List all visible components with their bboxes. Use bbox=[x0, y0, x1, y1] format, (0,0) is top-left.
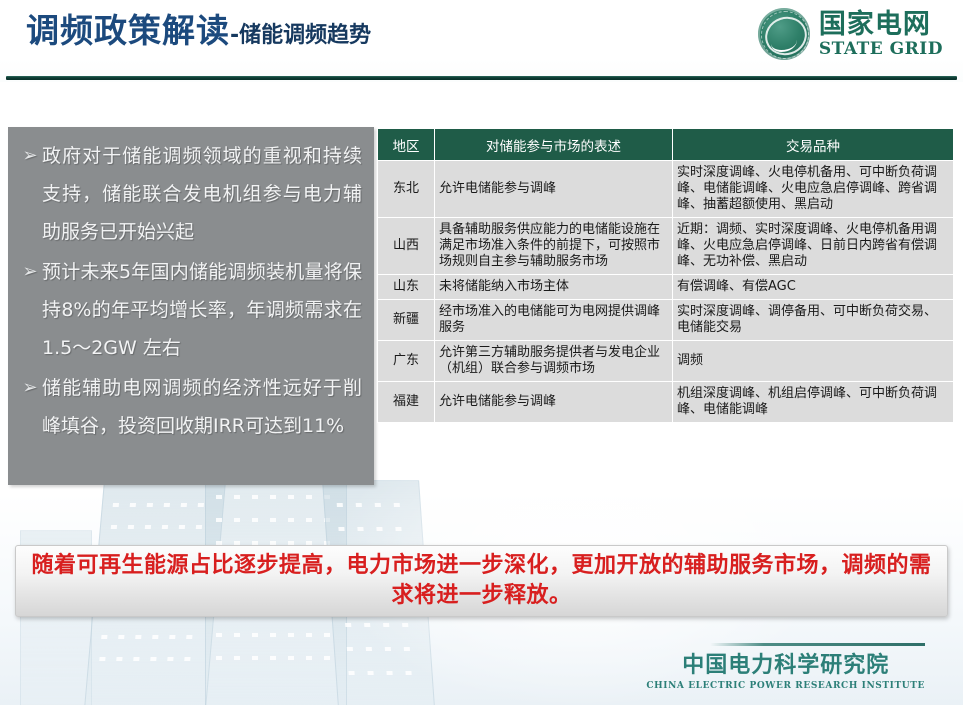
column-header-region: 地区 bbox=[378, 129, 435, 161]
watermark-window bbox=[337, 503, 343, 507]
table-row: 山东 未将储能纳入市场主体 有偿调峰、有偿AGC bbox=[378, 275, 954, 300]
watermark-window bbox=[147, 503, 153, 507]
watermark-window bbox=[270, 495, 276, 499]
watermark-window bbox=[216, 518, 222, 522]
cell-description: 具备辅助服务供应能力的电储能设施在满足市场准入条件的前提下，可按照市场规则自主参… bbox=[435, 218, 673, 275]
watermark-window bbox=[345, 623, 351, 627]
key-points-list: ➢ 政府对于储能调频领域的重视和持续支持，储能联合发电机组参与电力辅助服务已开始… bbox=[18, 137, 362, 445]
state-grid-name-cn: 国家电网 bbox=[819, 11, 943, 38]
watermark-window bbox=[252, 633, 258, 637]
list-item: ➢ 预计未来5年国内储能调频装机量将保持8%的年平均增长率，年调频需求在1.5～… bbox=[18, 253, 362, 367]
watermark-window bbox=[395, 527, 401, 531]
cell-variety: 调频 bbox=[673, 341, 954, 382]
watermark-window bbox=[270, 518, 276, 522]
institute-logo: 中国电力科学研究院 CHINA ELECTRIC POWER RESEARCH … bbox=[646, 643, 925, 691]
watermark-window bbox=[306, 495, 312, 499]
table-row: 山西 具备辅助服务供应能力的电储能设施在满足市场准入条件的前提下，可按照市场规则… bbox=[378, 218, 954, 275]
watermark-window bbox=[324, 656, 330, 660]
watermark-window bbox=[167, 657, 173, 661]
table-row: 福建 允许电储能参与调峰 机组深度调峰、机组启停调峰、可中断负荷调峰、电储能调峰 bbox=[378, 382, 954, 423]
watermark-window bbox=[367, 671, 373, 675]
watermark-window bbox=[288, 495, 294, 499]
watermark-window bbox=[216, 633, 222, 637]
state-grid-globe-icon bbox=[758, 8, 810, 60]
watermark-window bbox=[234, 633, 240, 637]
watermark-window bbox=[101, 635, 107, 639]
column-header-variety: 交易品种 bbox=[673, 129, 954, 161]
conclusion-banner: 随着可再生能源占比逐步提高，电力市场进一步深化，更加开放的辅助服务市场，调频的需… bbox=[15, 545, 948, 617]
cell-variety: 有偿调峰、有偿AGC bbox=[673, 275, 954, 300]
state-grid-name-en: STATE GRID bbox=[819, 41, 943, 58]
watermark-window bbox=[252, 656, 258, 660]
cell-region: 山西 bbox=[378, 218, 435, 275]
watermark-window bbox=[348, 671, 354, 675]
list-item: ➢ 储能辅助电网调频的经济性远好于削峰填谷，投资回收期IRR可达到11% bbox=[18, 369, 362, 445]
institute-name-cn: 中国电力科学研究院 bbox=[646, 654, 925, 678]
watermark-window bbox=[150, 657, 156, 661]
table-row: 东北 允许电储能参与调峰 实时深度调峰、火电停机备用、可中断负荷调峰、电储能调峰… bbox=[378, 161, 954, 218]
cell-description: 经市场准入的电储能可为电网提供调峰服务 bbox=[435, 300, 673, 341]
watermark-window bbox=[130, 503, 136, 507]
arrow-bullet-icon: ➢ bbox=[18, 137, 42, 175]
table-row: 新疆 经市场准入的电储能可为电网提供调峰服务 实时深度调峰、调停备用、可中断负荷… bbox=[378, 300, 954, 341]
watermark-window bbox=[306, 656, 312, 660]
watermark-window bbox=[375, 503, 381, 507]
watermark-window bbox=[402, 623, 408, 627]
institute-name-en: CHINA ELECTRIC POWER RESEARCH INSTITUTE bbox=[646, 681, 925, 691]
watermark-window bbox=[394, 503, 400, 507]
watermark-window bbox=[324, 495, 330, 499]
cell-region: 福建 bbox=[378, 382, 435, 423]
state-grid-logo-text: 国家电网 STATE GRID bbox=[819, 11, 943, 58]
table-header-row: 地区 对储能参与市场的表述 交易品种 bbox=[378, 129, 954, 161]
logo-ring-icon bbox=[761, 11, 809, 59]
cell-description: 允许第三方辅助服务提供者与发电企业（机组）联合参与调频市场 bbox=[435, 341, 673, 382]
watermark-window bbox=[198, 503, 204, 507]
cell-region: 新疆 bbox=[378, 300, 435, 341]
watermark-window bbox=[216, 495, 222, 499]
header-divider bbox=[6, 76, 957, 80]
column-header-description: 对储能参与市场的表述 bbox=[435, 129, 673, 161]
watermark-window bbox=[133, 657, 139, 661]
watermark-window bbox=[162, 525, 168, 529]
list-item-text: 储能辅助电网调频的经济性远好于削峰填谷，投资回收期IRR可达到11% bbox=[42, 369, 362, 445]
policy-table: 地区 对储能参与市场的表述 交易品种 东北 允许电储能参与调峰 实时深度调峰、火… bbox=[377, 128, 954, 423]
watermark-window bbox=[338, 527, 344, 531]
state-grid-logo: 国家电网 STATE GRID bbox=[758, 8, 943, 60]
list-item: ➢ 政府对于储能调频领域的重视和持续支持，储能联合发电机组参与电力辅助服务已开始… bbox=[18, 137, 362, 251]
list-item-text: 政府对于储能调频领域的重视和持续支持，储能联合发电机组参与电力辅助服务已开始兴起 bbox=[42, 137, 362, 251]
watermark-window bbox=[99, 657, 105, 661]
table-header: 地区 对储能参与市场的表述 交易品种 bbox=[378, 129, 954, 161]
watermark-window bbox=[376, 527, 382, 531]
watermark-window bbox=[169, 635, 175, 639]
list-item-text: 预计未来5年国内储能调频装机量将保持8%的年平均增长率，年调频需求在1.5～2G… bbox=[42, 253, 362, 367]
slide-root: 调频政策解读 -储能调频趋势 国家电网 STATE GRID ➢ 政府对于储能调… bbox=[0, 0, 963, 705]
watermark-window bbox=[347, 647, 353, 651]
table-body: 东北 允许电储能参与调峰 实时深度调峰、火电停机备用、可中断负荷调峰、电储能调峰… bbox=[378, 161, 954, 423]
watermark-window bbox=[135, 635, 141, 639]
watermark-window bbox=[196, 525, 202, 529]
watermark-window bbox=[270, 633, 276, 637]
watermark-window bbox=[324, 518, 330, 522]
watermark-window bbox=[356, 503, 362, 507]
watermark-window bbox=[324, 633, 330, 637]
cell-variety: 近期：调频、实时深度调峰、火电停机备用调峰、火电应急启停调峰、日前日内跨省有偿调… bbox=[673, 218, 954, 275]
watermark-window bbox=[179, 525, 185, 529]
watermark-window bbox=[386, 671, 392, 675]
watermark-window bbox=[383, 623, 389, 627]
watermark-window bbox=[164, 503, 170, 507]
watermark-window bbox=[252, 495, 258, 499]
arrow-bullet-icon: ➢ bbox=[18, 369, 42, 407]
watermark-window bbox=[128, 525, 134, 529]
watermark-window bbox=[306, 633, 312, 637]
watermark-window bbox=[234, 656, 240, 660]
page-title-main: 调频政策解读 bbox=[26, 8, 230, 54]
watermark-window bbox=[288, 656, 294, 660]
watermark-window bbox=[357, 527, 363, 531]
watermark-window bbox=[405, 671, 411, 675]
watermark-window bbox=[145, 525, 151, 529]
watermark-window bbox=[270, 656, 276, 660]
slide-header: 调频政策解读 -储能调频趋势 国家电网 STATE GRID bbox=[0, 0, 963, 82]
cell-description: 允许电储能参与调峰 bbox=[435, 161, 673, 218]
watermark-window bbox=[288, 633, 294, 637]
watermark-window bbox=[288, 518, 294, 522]
conclusion-banner-text: 随着可再生能源占比逐步提高，电力市场进一步深化，更加开放的辅助服务市场，调频的需… bbox=[30, 551, 933, 611]
cell-region: 山东 bbox=[378, 275, 435, 300]
page-title: 调频政策解读 -储能调频趋势 bbox=[26, 8, 371, 59]
watermark-window bbox=[186, 635, 192, 639]
watermark-window bbox=[152, 635, 158, 639]
page-title-sub: -储能调频趋势 bbox=[230, 13, 371, 59]
watermark-window bbox=[366, 647, 372, 651]
watermark-window bbox=[111, 525, 117, 529]
watermark-window bbox=[404, 647, 410, 651]
watermark-window bbox=[306, 518, 312, 522]
footer-divider bbox=[710, 643, 925, 646]
watermark-window bbox=[184, 657, 190, 661]
watermark-window bbox=[364, 623, 370, 627]
key-points-panel: ➢ 政府对于储能调频领域的重视和持续支持，储能联合发电机组参与电力辅助服务已开始… bbox=[8, 127, 374, 485]
arrow-bullet-icon: ➢ bbox=[18, 253, 42, 291]
watermark-window bbox=[234, 518, 240, 522]
watermark-window bbox=[118, 635, 124, 639]
cell-region: 东北 bbox=[378, 161, 435, 218]
watermark-window bbox=[216, 656, 222, 660]
cell-variety: 实时深度调峰、调停备用、可中断负荷交易、电储能交易 bbox=[673, 300, 954, 341]
watermark-window bbox=[385, 647, 391, 651]
watermark-window bbox=[234, 495, 240, 499]
cell-variety: 机组深度调峰、机组启停调峰、可中断负荷调峰、电储能调峰 bbox=[673, 382, 954, 423]
table-row: 广东 允许第三方辅助服务提供者与发电企业（机组）联合参与调频市场 调频 bbox=[378, 341, 954, 382]
watermark-window bbox=[113, 503, 119, 507]
cell-variety: 实时深度调峰、火电停机备用、可中断负荷调峰、电储能调峰、火电应急启停调峰、跨省调… bbox=[673, 161, 954, 218]
cell-description: 未将储能纳入市场主体 bbox=[435, 275, 673, 300]
watermark-window bbox=[181, 503, 187, 507]
watermark-window bbox=[252, 518, 258, 522]
watermark-window bbox=[116, 657, 122, 661]
cell-region: 广东 bbox=[378, 341, 435, 382]
cell-description: 允许电储能参与调峰 bbox=[435, 382, 673, 423]
